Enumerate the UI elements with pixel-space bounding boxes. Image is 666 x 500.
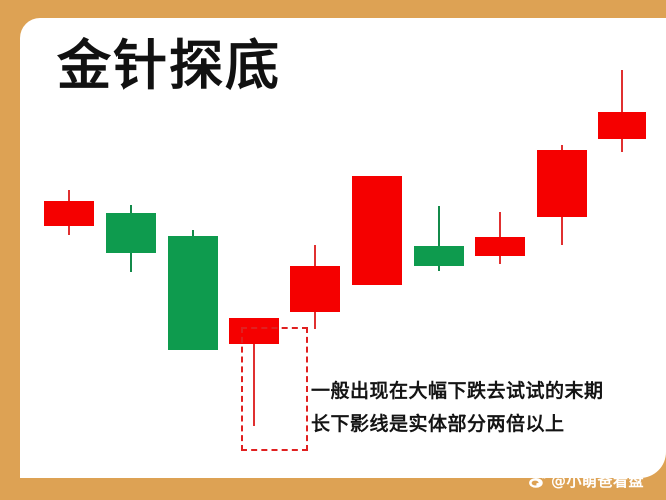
candle-body [537,150,587,217]
candle-body [290,266,340,312]
hammer-highlight-box [241,327,308,451]
candle-body [414,246,464,266]
candle-body [475,237,525,256]
white-card: 金针探底 一般出现在大幅下跌去试试的末期 长下影线是实体部分两倍以上 [20,18,666,478]
watermark: @小萌爸看盘 [528,470,644,491]
annotation-line-1: 一般出现在大幅下跌去试试的末期 [311,375,641,408]
page-title: 金针探底 [57,38,281,92]
candle-body [44,201,94,226]
candle-body [168,236,218,350]
candle-body [598,112,646,139]
annotation-text: 一般出现在大幅下跌去试试的末期 长下影线是实体部分两倍以上 [311,375,641,441]
annotation-line-2: 长下影线是实体部分两倍以上 [311,408,641,441]
watermark-handle: @小萌爸看盘 [551,470,644,491]
candle-wick [621,70,623,152]
weibo-icon [528,471,547,490]
image-canvas: 金针探底 一般出现在大幅下跌去试试的末期 长下影线是实体部分两倍以上 @小萌爸看… [0,0,666,500]
candle-body [352,176,402,285]
candle-body [106,213,156,253]
